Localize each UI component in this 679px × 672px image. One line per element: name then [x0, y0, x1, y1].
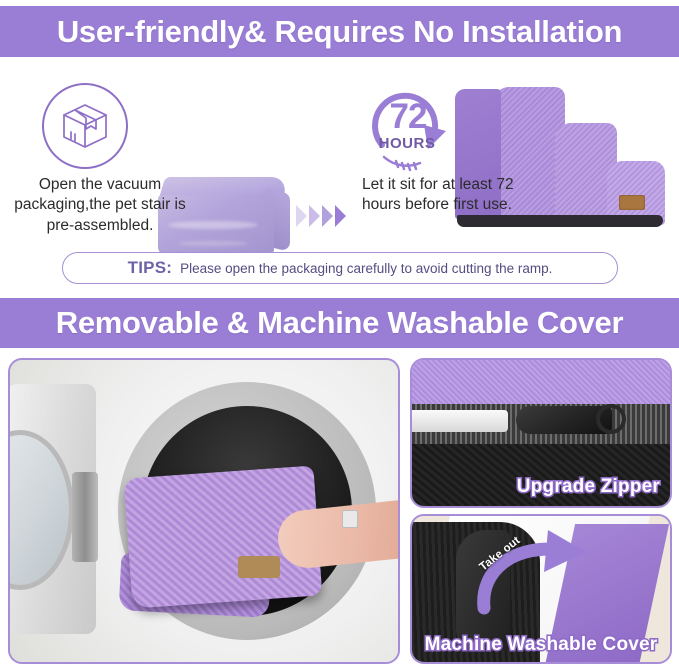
pet-stairs-base: [457, 215, 663, 227]
headline-banner-top: User-friendly& Requires No Installation: [0, 6, 679, 57]
zipper-fabric-bottom: [412, 442, 670, 508]
badge-number: 72: [370, 97, 446, 137]
chevron-arrows-icon: [296, 205, 346, 227]
tips-text: Please open the packaging carefully to a…: [180, 261, 552, 276]
chevron-4-icon: [335, 205, 346, 227]
zipper-open-gap: [412, 410, 508, 432]
zipper-fabric-top: [412, 360, 670, 406]
tips-label: TIPS:: [128, 258, 172, 278]
step-1-caption: Open the vacuum packaging,the pet stair …: [0, 175, 200, 236]
headline-banner-bottom: Removable & Machine Washable Cover: [0, 298, 679, 348]
washing-machine-illustration: [10, 360, 398, 662]
zipper-photo-label: Upgrade Zipper: [517, 476, 660, 498]
washing-machine-photo: [8, 358, 400, 664]
steps-section: 72 HOURS Open the vacuum packaging,the p…: [0, 57, 679, 242]
badge-unit: HOURS: [368, 135, 446, 152]
package-box-icon: [42, 83, 128, 169]
product-infographic: User-friendly& Requires No Installation: [0, 0, 679, 672]
chevron-1-icon: [296, 205, 307, 227]
washer-door-hinge: [72, 472, 98, 562]
seventy-two-hours-badge: 72 HOURS: [362, 83, 458, 175]
removable-cover-photo: Take out Machine Washable Cover: [410, 514, 672, 664]
headline-banner-top-text: User-friendly& Requires No Installation: [57, 14, 622, 50]
zipper-pull-ring: [596, 404, 626, 434]
zipper-photo: Upgrade Zipper: [410, 358, 672, 508]
step-2-caption: Let it sit for at least 72 hours before …: [362, 175, 532, 216]
tips-callout: TIPS: Please open the packaging carefull…: [62, 252, 618, 284]
take-out-arrow-icon: [470, 530, 610, 616]
chevron-3-icon: [322, 205, 333, 227]
chevron-2-icon: [309, 205, 320, 227]
brand-tag: [619, 195, 645, 210]
vacuum-pack-sheen-2: [178, 241, 248, 246]
washer-latch: [342, 510, 358, 528]
cover-photo-label: Machine Washable Cover: [425, 634, 658, 656]
cover-brand-tag: [238, 556, 280, 578]
headline-banner-bottom-text: Removable & Machine Washable Cover: [56, 305, 624, 341]
